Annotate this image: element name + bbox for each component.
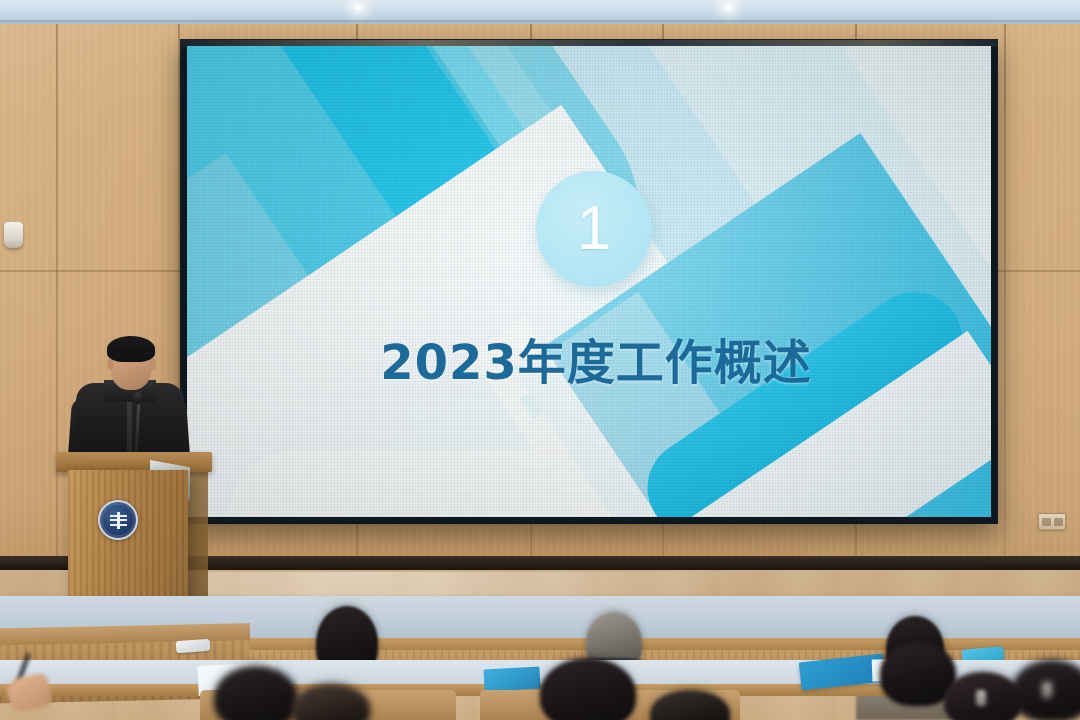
wall-seam	[56, 24, 58, 564]
power-outlet-icon	[1038, 513, 1066, 530]
led-presentation-screen[interactable]: 1 2023年度工作概述	[181, 40, 997, 523]
wall-speaker-icon	[4, 222, 23, 248]
presentation-slide: 1 2023年度工作概述	[187, 46, 991, 517]
hair-clip-icon	[1042, 682, 1052, 698]
speaker-hair	[107, 336, 155, 362]
wall-seam	[1004, 24, 1006, 564]
section-number-badge: 1	[536, 171, 652, 287]
phone-on-table-icon[interactable]	[176, 639, 211, 653]
blue-booklet-left-icon[interactable]	[483, 667, 540, 692]
emblem-glyph	[110, 512, 127, 529]
ceiling-downlight-icon	[722, 3, 735, 12]
hair-clip-icon	[976, 690, 986, 706]
microphone-icon	[133, 392, 142, 404]
speaker-jacket-placket	[127, 392, 132, 460]
audience-head	[540, 658, 636, 720]
conference-hall-photo: 1 2023年度工作概述	[0, 0, 1080, 720]
slide-title: 2023年度工作概述	[380, 323, 812, 393]
speaker-ear	[149, 358, 156, 370]
university-emblem-icon	[98, 500, 138, 540]
slide-content: 1 2023年度工作概述	[187, 46, 991, 517]
ceiling-downlight-icon	[352, 3, 365, 12]
section-number-text: 1	[577, 198, 611, 260]
